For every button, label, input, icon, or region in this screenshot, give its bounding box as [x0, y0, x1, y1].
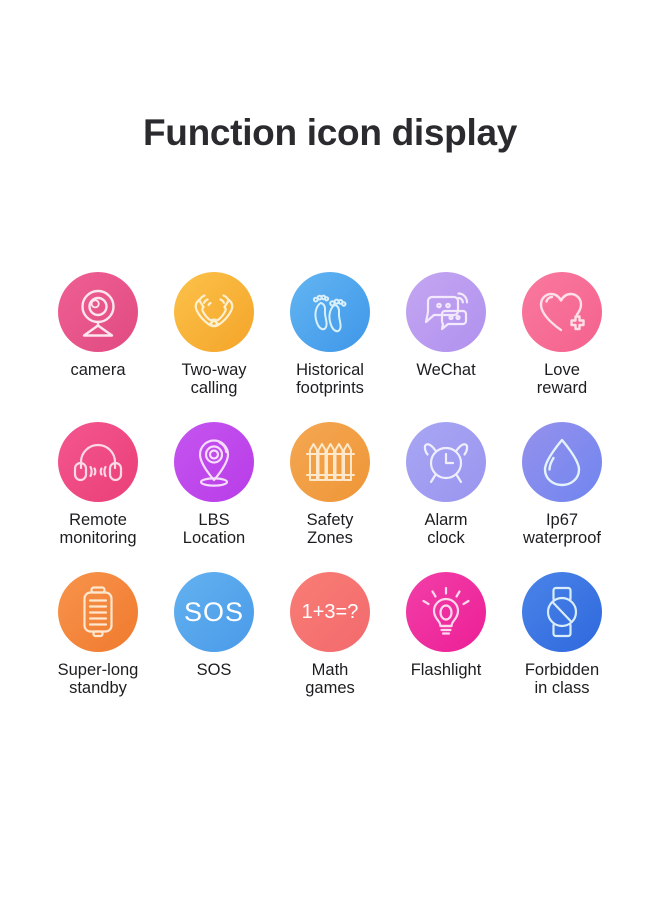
chat-bubbles-icon[interactable] — [406, 272, 486, 352]
water-drop-icon[interactable] — [522, 422, 602, 502]
feature-icon-grid: camera — [40, 272, 620, 722]
feature-item-forbidden-in-class[interactable]: Forbidden in class — [504, 572, 620, 698]
location-pin-icon[interactable] — [174, 422, 254, 502]
feature-row: Super-long standby SOS SOS 1+3=? Math ga… — [40, 572, 620, 722]
feature-row: Remote monitoring LBS Location — [40, 422, 620, 572]
footprints-icon[interactable] — [290, 272, 370, 352]
feature-item-historical-footprints[interactable]: Historical footprints — [272, 272, 388, 398]
feature-item-sos[interactable]: SOS SOS — [156, 572, 272, 679]
feature-item-safety-zones[interactable]: Safety Zones — [272, 422, 388, 548]
feature-label: Two-way calling — [181, 361, 246, 398]
feature-label: Love reward — [537, 361, 587, 398]
alarm-clock-icon[interactable] — [406, 422, 486, 502]
feature-label: Ip67 waterproof — [523, 511, 601, 548]
feature-label: Safety Zones — [307, 511, 354, 548]
feature-label: camera — [70, 361, 125, 379]
webcam-icon[interactable] — [58, 272, 138, 352]
feature-item-wechat[interactable]: WeChat — [388, 272, 504, 379]
sos-text-icon[interactable]: SOS — [174, 572, 254, 652]
battery-icon[interactable] — [58, 572, 138, 652]
feature-label: Forbidden in class — [525, 661, 599, 698]
lightbulb-icon[interactable] — [406, 572, 486, 652]
feature-label: Flashlight — [411, 661, 482, 679]
feature-label: LBS Location — [183, 511, 245, 548]
feature-item-super-long-standby[interactable]: Super-long standby — [40, 572, 156, 698]
feature-item-lbs-location[interactable]: LBS Location — [156, 422, 272, 548]
watch-forbidden-icon[interactable] — [522, 572, 602, 652]
feature-label: WeChat — [416, 361, 475, 379]
math-equation-icon[interactable]: 1+3=? — [290, 572, 370, 652]
feature-item-two-way-calling[interactable]: Two-way calling — [156, 272, 272, 398]
feature-label: Math games — [305, 661, 355, 698]
feature-label: Alarm clock — [424, 511, 467, 548]
headphones-icon[interactable] — [58, 422, 138, 502]
feature-item-math-games[interactable]: 1+3=? Math games — [272, 572, 388, 698]
feature-row: camera — [40, 272, 620, 422]
feature-item-remote-monitoring[interactable]: Remote monitoring — [40, 422, 156, 548]
feature-item-ip67-waterproof[interactable]: Ip67 waterproof — [504, 422, 620, 548]
feature-label: SOS — [197, 661, 232, 679]
feature-item-camera[interactable]: camera — [40, 272, 156, 379]
page-title: Function icon display — [0, 112, 660, 154]
heart-plus-icon[interactable] — [522, 272, 602, 352]
feature-label: Super-long standby — [58, 661, 139, 698]
feature-label: Remote monitoring — [59, 511, 136, 548]
page-root: Function icon display camera — [0, 0, 660, 900]
feature-item-alarm-clock[interactable]: Alarm clock — [388, 422, 504, 548]
sos-icon-label: SOS — [184, 599, 244, 626]
feature-label: Historical footprints — [296, 361, 364, 398]
two-phone-handsets-icon[interactable] — [174, 272, 254, 352]
fence-icon[interactable] — [290, 422, 370, 502]
math-icon-label: 1+3=? — [302, 602, 359, 622]
feature-item-love-reward[interactable]: Love reward — [504, 272, 620, 398]
feature-item-flashlight[interactable]: Flashlight — [388, 572, 504, 679]
